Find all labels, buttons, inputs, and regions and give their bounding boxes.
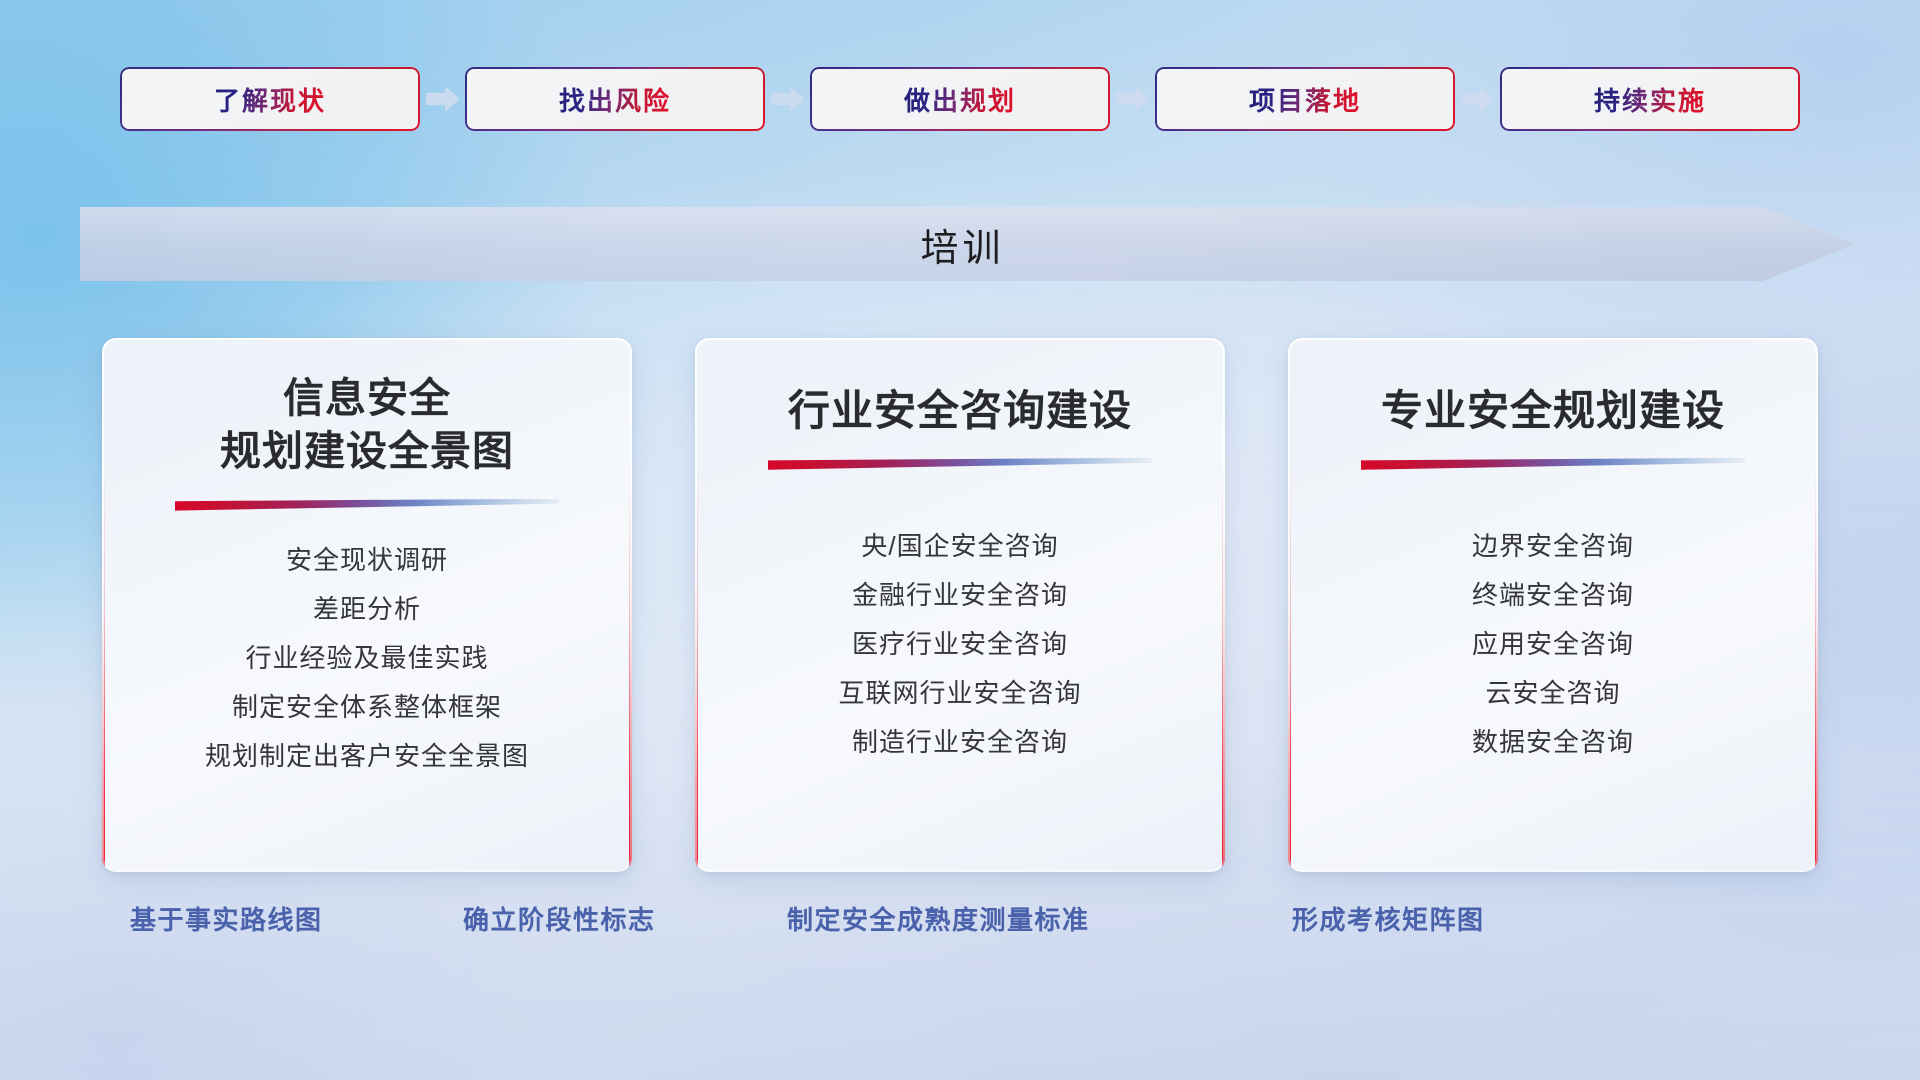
step-label: 持续实施 — [1594, 81, 1706, 118]
step-arrow-4 — [1455, 67, 1500, 131]
list-item: 医疗行业安全咨询 — [852, 623, 1068, 665]
step-label: 找出风险 — [559, 81, 671, 118]
list-item: 行业经验及最佳实践 — [245, 637, 488, 679]
card-divider-gradient-icon — [768, 458, 1152, 470]
list-item: 边界安全咨询 — [1472, 525, 1634, 567]
list-item: 安全现状调研 — [286, 539, 448, 581]
step-item-5[interactable]: 持续实施 — [1500, 67, 1800, 131]
card-title-line: 专业安全规划建设 — [1381, 384, 1725, 438]
card-title-line: 行业安全咨询建设 — [788, 384, 1132, 438]
card-item-list: 边界安全咨询 终端安全咨询 应用安全咨询 云安全咨询 数据安全咨询 — [1472, 525, 1634, 764]
step-item-1[interactable]: 了解现状 — [120, 67, 420, 131]
list-item: 数据安全咨询 — [1472, 721, 1634, 763]
step-item-2[interactable]: 找出风险 — [465, 67, 765, 131]
training-banner: 培训 — [80, 207, 1855, 281]
list-item: 制造行业安全咨询 — [852, 721, 1068, 763]
list-item: 云安全咨询 — [1485, 672, 1620, 714]
list-item: 差距分析 — [313, 588, 421, 630]
card-title: 信息安全 规划建设全景图 — [220, 372, 514, 479]
footer-label-3: 制定安全成熟度测量标准 — [787, 900, 1090, 937]
list-item: 金融行业安全咨询 — [852, 574, 1068, 616]
card-info-security-blueprint[interactable]: 信息安全 规划建设全景图 安全现状调研 差距分析 行业经验及最佳实践 制定安全体… — [102, 338, 632, 872]
card-divider-gradient-icon — [175, 499, 559, 511]
chevron-right-icon — [1116, 85, 1150, 113]
card-title-line: 信息安全 — [220, 372, 514, 425]
list-item: 制定安全体系整体框架 — [232, 686, 502, 728]
card-industry-security-consulting[interactable]: 行业安全咨询建设 央/国企安全咨询 金融行业安全咨询 医疗行业安全咨询 互联网行… — [695, 338, 1225, 872]
card-professional-security-planning[interactable]: 专业安全规划建设 边界安全咨询 终端安全咨询 应用安全咨询 云安全咨询 数据安全… — [1288, 338, 1818, 872]
card-divider — [1361, 458, 1745, 470]
list-item: 规划制定出客户安全全景图 — [205, 735, 529, 777]
step-label: 了解现状 — [214, 81, 326, 118]
list-item: 终端安全咨询 — [1472, 574, 1634, 616]
card-divider — [768, 458, 1152, 470]
step-arrow-1 — [420, 67, 465, 131]
banner-label: 培训 — [80, 207, 1855, 281]
list-item: 互联网行业安全咨询 — [838, 672, 1081, 714]
footer-label-row: 基于事实路线图 确立阶段性标志 制定安全成熟度测量标准 形成考核矩阵图 — [0, 900, 1920, 956]
card-divider-gradient-icon — [1361, 458, 1745, 470]
card-divider — [175, 499, 559, 511]
step-arrow-2 — [765, 67, 810, 131]
card-row: 信息安全 规划建设全景图 安全现状调研 差距分析 行业经验及最佳实践 制定安全体… — [0, 338, 1920, 872]
chevron-right-icon — [426, 85, 460, 113]
step-label: 做出规划 — [904, 81, 1016, 118]
step-label: 项目落地 — [1249, 81, 1361, 118]
step-item-3[interactable]: 做出规划 — [810, 67, 1110, 131]
chevron-right-icon — [1461, 85, 1495, 113]
process-step-row: 了解现状 找出风险 做出规划 项目落地 持续实施 — [0, 66, 1920, 132]
step-arrow-3 — [1110, 67, 1155, 131]
card-item-list: 安全现状调研 差距分析 行业经验及最佳实践 制定安全体系整体框架 规划制定出客户… — [205, 539, 529, 778]
footer-label-4: 形成考核矩阵图 — [1292, 900, 1485, 937]
card-title: 专业安全规划建设 — [1381, 384, 1725, 438]
footer-label-2: 确立阶段性标志 — [463, 900, 656, 937]
chevron-right-icon — [771, 85, 805, 113]
card-item-list: 央/国企安全咨询 金融行业安全咨询 医疗行业安全咨询 互联网行业安全咨询 制造行… — [838, 525, 1081, 764]
step-item-4[interactable]: 项目落地 — [1155, 67, 1455, 131]
card-title: 行业安全咨询建设 — [788, 384, 1132, 438]
card-title-line: 规划建设全景图 — [220, 425, 514, 478]
footer-label-1: 基于事实路线图 — [130, 900, 323, 937]
list-item: 央/国企安全咨询 — [861, 525, 1058, 567]
list-item: 应用安全咨询 — [1472, 623, 1634, 665]
